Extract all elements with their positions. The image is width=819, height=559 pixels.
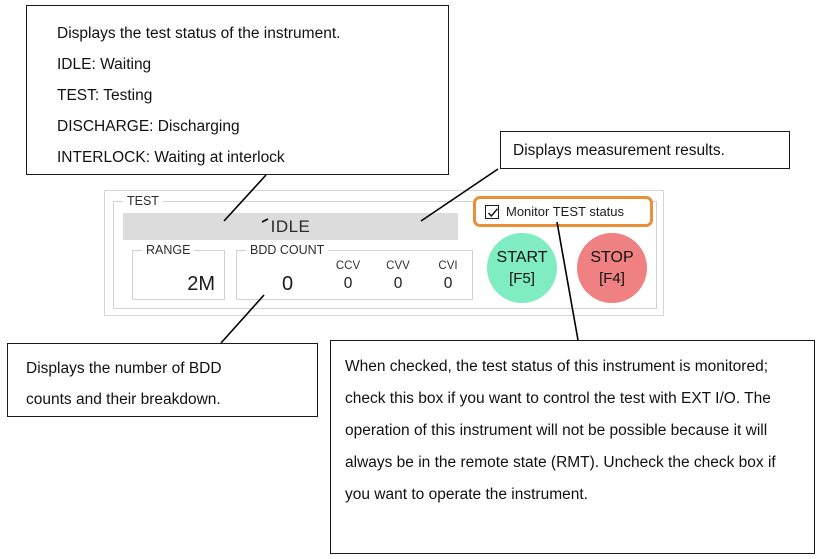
bdd-count-group-label: BDD COUNT <box>246 242 328 258</box>
bdd-column-cvi-header: CVI <box>430 259 466 274</box>
stop-button-key: [F4] <box>599 268 625 289</box>
bdd-count-value: 0 <box>282 273 293 296</box>
callout-status-line-3: DISCHARGE: Discharging <box>57 111 448 142</box>
monitor-test-status-highlight: Monitor TEST status <box>473 196 653 227</box>
monitor-test-status-checkbox[interactable] <box>485 205 499 219</box>
callout-status-line-2: TEST: Testing <box>57 80 448 111</box>
range-value: 2M <box>187 273 215 296</box>
callout-monitor-text: When checked, the test status of this in… <box>345 351 798 511</box>
bdd-column-cvi-value: 0 <box>430 274 466 294</box>
callout-status-line-1: IDLE: Waiting <box>57 49 448 80</box>
test-group-label: TEST <box>123 193 163 209</box>
stop-button-label: STOP <box>590 247 633 268</box>
callout-status-line-4: INTERLOCK: Waiting at interlock <box>57 142 448 173</box>
bdd-column-cvv-header: CVV <box>380 259 416 274</box>
callout-status-line-0: Displays the test status of the instrume… <box>57 18 448 49</box>
callout-bdd-line-0: Displays the number of BDD <box>26 353 317 384</box>
range-group-label: RANGE <box>142 242 194 258</box>
bdd-column-cvv: CVV 0 <box>380 259 416 294</box>
start-button-label: START <box>497 247 548 268</box>
instrument-panel: TEST IDLE RANGE 2M BDD COUNT 0 CCV 0 CVV… <box>104 190 664 316</box>
callout-results-text: Displays measurement results. <box>513 135 725 166</box>
bdd-column-ccv-header: CCV <box>330 259 366 274</box>
monitor-test-status-label: Monitor TEST status <box>506 204 624 219</box>
callout-monitor-test-status-description: When checked, the test status of this in… <box>330 340 815 554</box>
bdd-column-ccv: CCV 0 <box>330 259 366 294</box>
checkmark-icon <box>487 207 499 219</box>
bdd-column-cvv-value: 0 <box>380 274 416 294</box>
bdd-breakdown: CCV 0 CVV 0 CVI 0 <box>330 259 466 294</box>
bdd-column-cvi: CVI 0 <box>430 259 466 294</box>
callout-bdd-line-1: counts and their breakdown. <box>26 384 317 415</box>
callout-bdd-count-description: Displays the number of BDD counts and th… <box>7 343 318 417</box>
callout-test-status-description: Displays the test status of the instrume… <box>26 5 449 175</box>
range-group-box: RANGE 2M <box>132 250 225 300</box>
start-button-key: [F5] <box>509 268 535 289</box>
bdd-column-ccv-value: 0 <box>330 274 366 294</box>
test-status-display: IDLE <box>123 213 458 240</box>
stop-button[interactable]: STOP [F4] <box>577 233 647 303</box>
bdd-count-group-box: BDD COUNT 0 CCV 0 CVV 0 CVI 0 <box>236 250 473 300</box>
callout-measurement-results-description: Displays measurement results. <box>500 131 790 169</box>
start-button[interactable]: START [F5] <box>487 233 557 303</box>
